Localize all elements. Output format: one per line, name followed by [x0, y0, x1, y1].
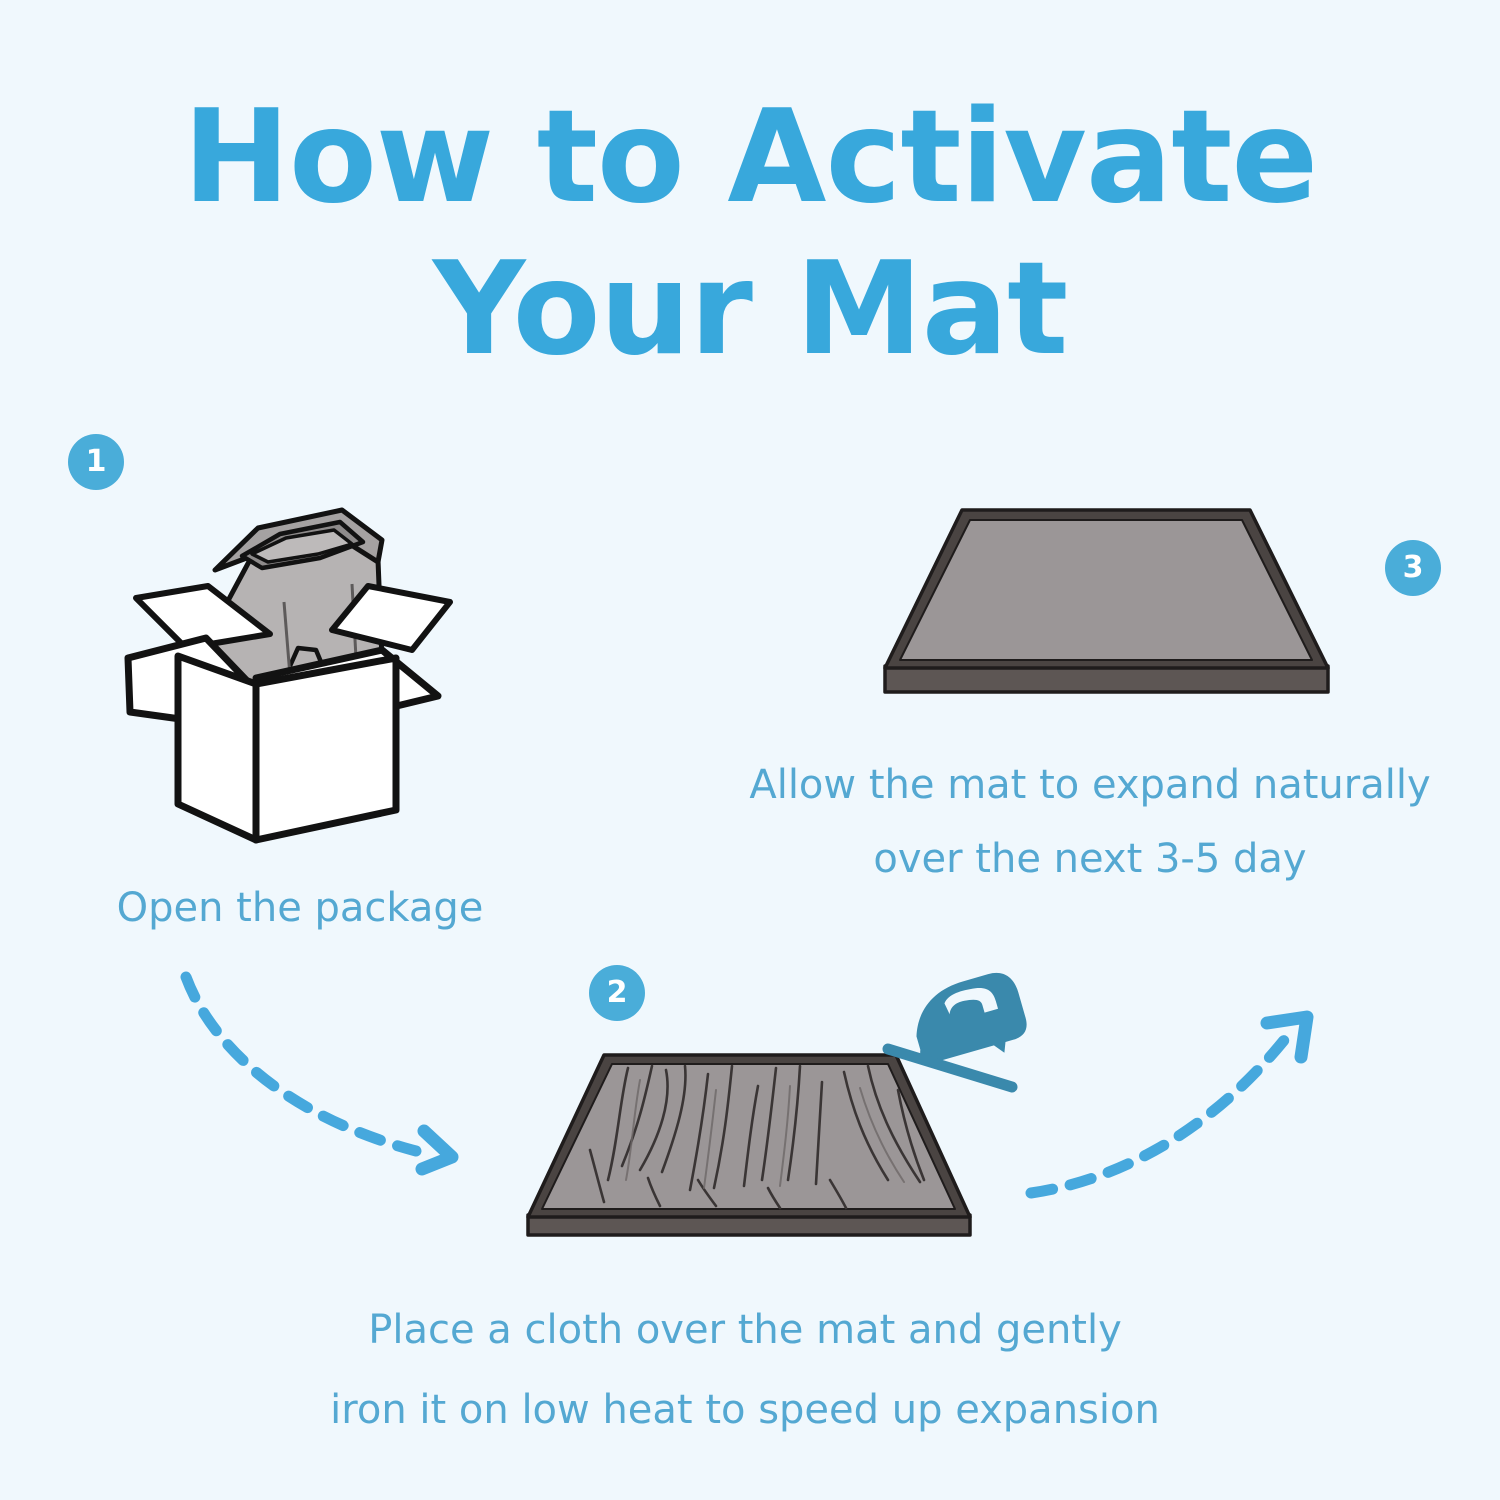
box-side-front	[256, 658, 396, 840]
infographic-page: How to Activate Your Mat 1	[0, 0, 1500, 1500]
arrow-left-head	[422, 1131, 452, 1169]
flat-mat-icon	[850, 470, 1370, 730]
step-1-caption: Open the package	[40, 880, 560, 936]
mat-front-edge	[885, 666, 1328, 692]
page-title-line-2: Your Mat	[0, 234, 1500, 386]
open-box-icon	[120, 498, 500, 878]
box-side-left	[178, 656, 256, 840]
dashed-arrow-up-right-icon	[1015, 995, 1345, 1225]
arrow-step1-to-step2	[170, 965, 510, 1205]
step-3-caption-line-2: over the next 3-5 day	[690, 822, 1490, 896]
step-2-badge: 2	[589, 965, 645, 1021]
step-1-badge: 1	[68, 434, 124, 490]
step-1-caption-line-1: Open the package	[40, 880, 560, 936]
page-title: How to Activate Your Mat	[0, 82, 1500, 386]
step-3-caption: Allow the mat to expand naturally over t…	[690, 748, 1490, 896]
step-3-badge: 3	[1385, 540, 1441, 596]
open-box-illustration	[120, 498, 500, 878]
arrow-step2-to-step3	[1015, 995, 1345, 1225]
step-2-caption: Place a cloth over the mat and gently ir…	[250, 1290, 1240, 1450]
dashed-arrow-down-right-icon	[170, 965, 510, 1205]
step-3-caption-line-1: Allow the mat to expand naturally	[690, 748, 1490, 822]
mat-surface	[900, 520, 1312, 660]
step-2-caption-line-1: Place a cloth over the mat and gently	[250, 1290, 1240, 1370]
arrow-left-dashes	[186, 977, 416, 1151]
page-title-line-1: How to Activate	[183, 83, 1317, 232]
step-2-caption-line-2: iron it on low heat to speed up expansio…	[250, 1370, 1240, 1450]
arrow-right-dashes	[1031, 1029, 1293, 1193]
flat-mat-illustration	[850, 470, 1370, 730]
